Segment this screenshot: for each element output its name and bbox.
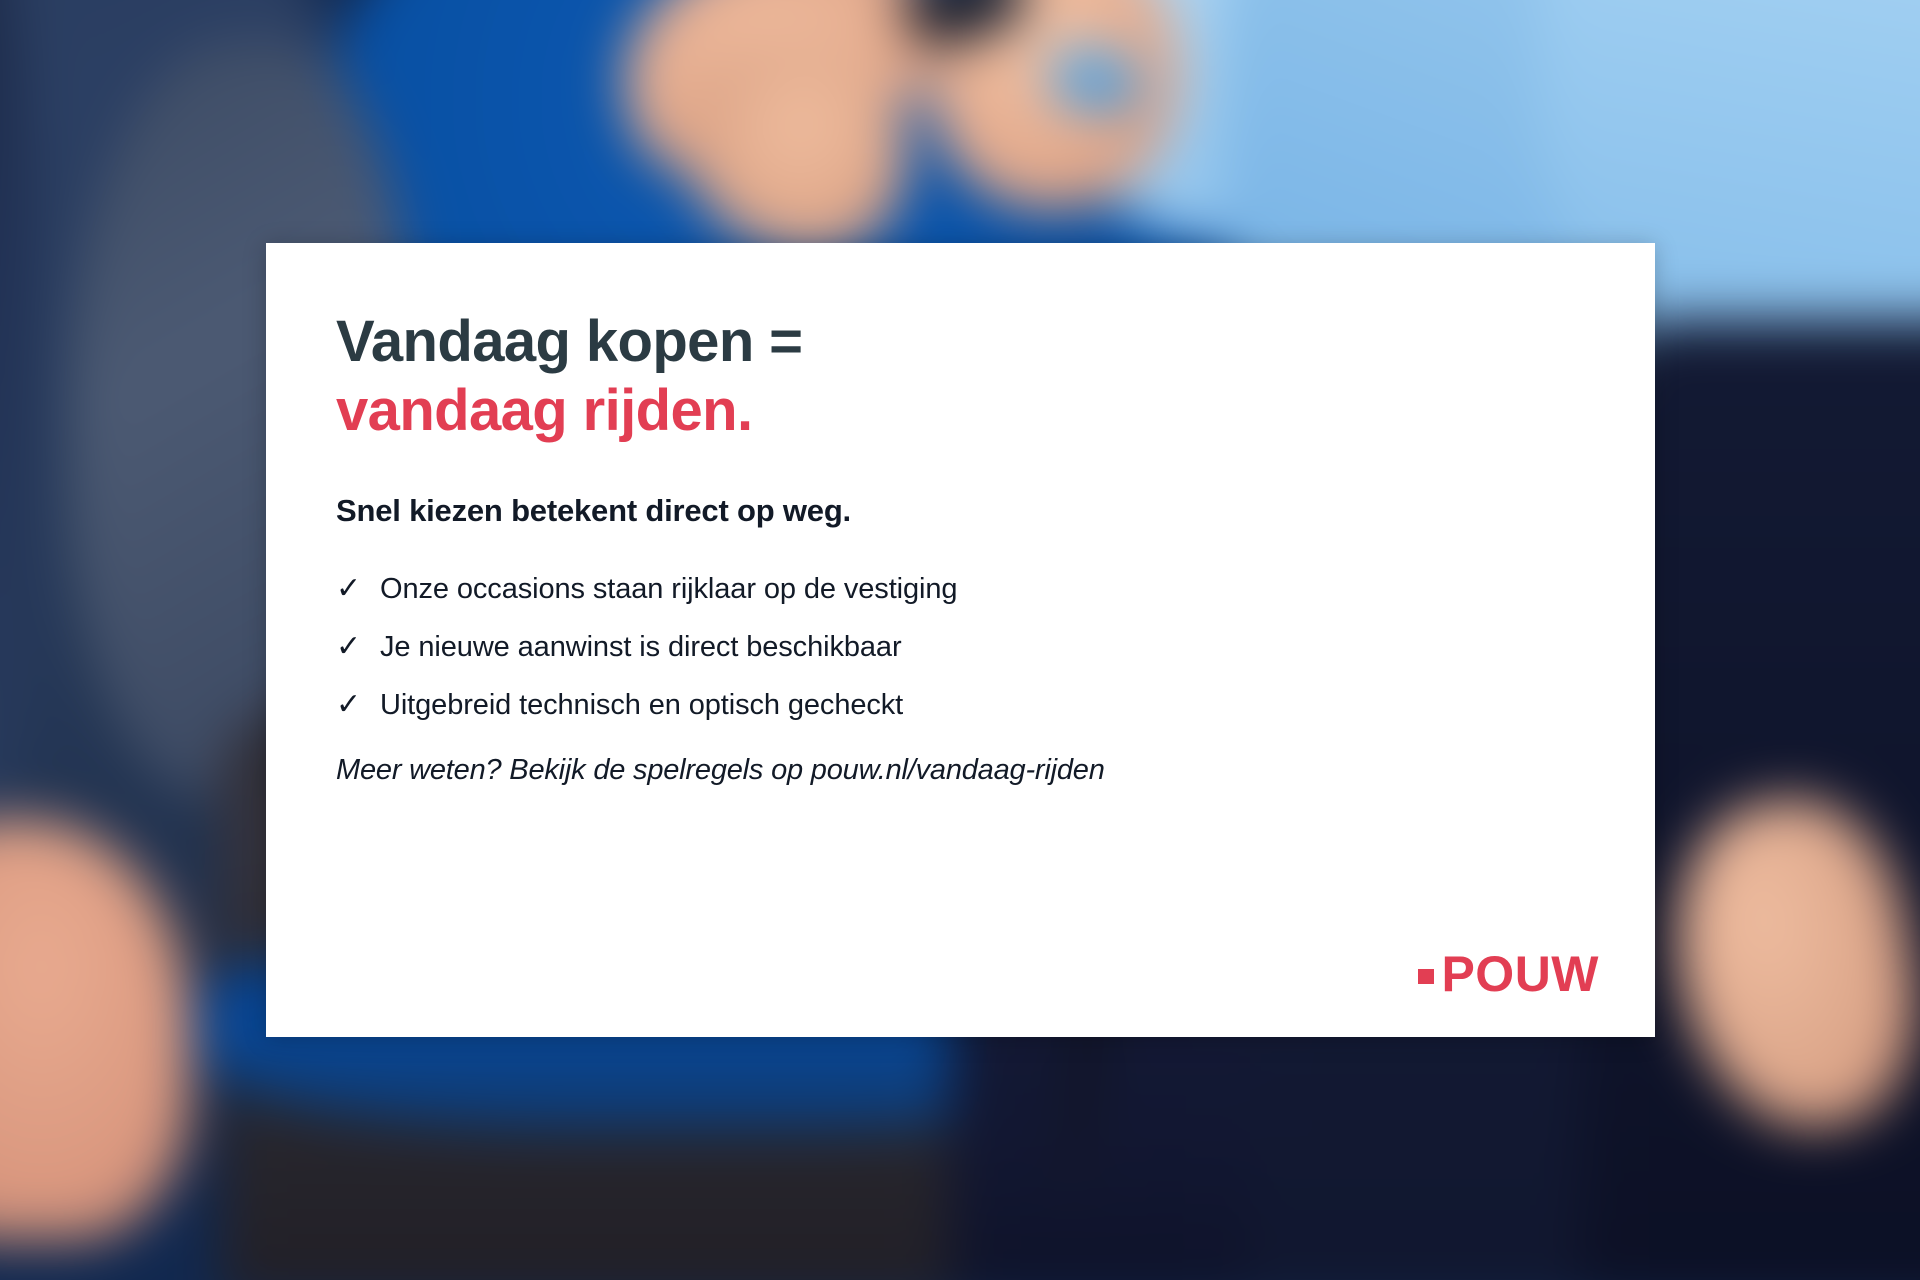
page-title: Vandaag kopen = vandaag rijden.	[336, 307, 1597, 445]
check-icon: ✓	[336, 574, 380, 604]
headline-line-2: vandaag rijden.	[336, 376, 1597, 445]
list-item-label: Uitgebreid technisch en optisch gecheckt	[380, 689, 903, 722]
check-icon: ✓	[336, 690, 380, 720]
footnote-text: Meer weten? Bekijk de spelregels op pouw…	[336, 754, 1597, 787]
benefits-list: ✓ Onze occasions staan rijklaar op de ve…	[336, 573, 1597, 722]
list-item: ✓ Onze occasions staan rijklaar op de ve…	[336, 573, 1597, 606]
logo-wordmark: POUW	[1441, 949, 1599, 999]
subheadline: Snel kiezen betekent direct op weg.	[336, 493, 1597, 529]
promo-banner: Vandaag kopen = vandaag rijden. Snel kie…	[0, 0, 1920, 1280]
check-icon: ✓	[336, 632, 380, 662]
promo-card-content: Vandaag kopen = vandaag rijden. Snel kie…	[336, 307, 1597, 1003]
list-item-label: Je nieuwe aanwinst is direct beschikbaar	[380, 631, 902, 664]
list-item: ✓ Je nieuwe aanwinst is direct beschikba…	[336, 631, 1597, 664]
pouw-logo[interactable]: POUW	[1418, 949, 1599, 999]
logo-dash-icon	[1418, 969, 1434, 984]
promo-card: Vandaag kopen = vandaag rijden. Snel kie…	[266, 243, 1655, 1037]
list-item-label: Onze occasions staan rijklaar op de vest…	[380, 573, 957, 606]
list-item: ✓ Uitgebreid technisch en optisch gechec…	[336, 689, 1597, 722]
headline-line-1: Vandaag kopen =	[336, 307, 1597, 376]
